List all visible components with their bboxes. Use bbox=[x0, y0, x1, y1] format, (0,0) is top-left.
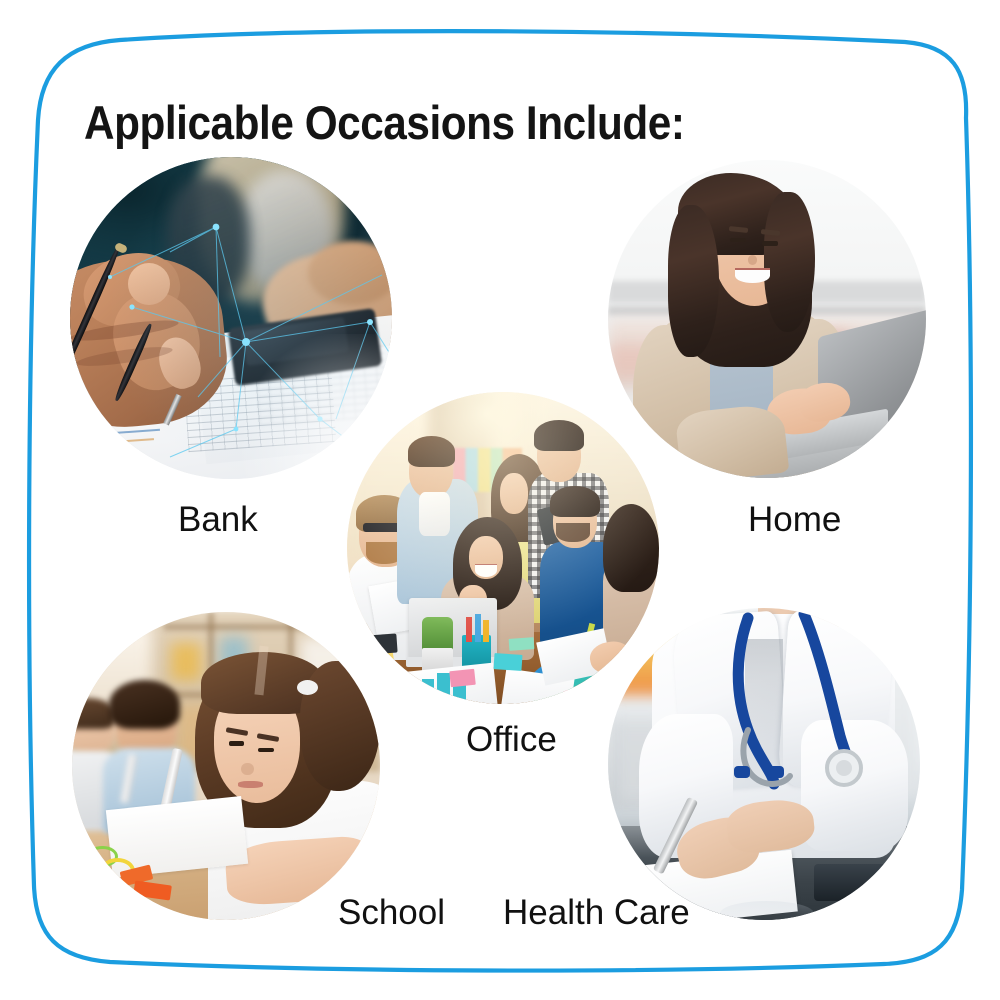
occasion-label-school: School bbox=[338, 893, 445, 933]
page-title: Applicable Occasions Include: bbox=[84, 95, 684, 150]
promo-graphic: Applicable Occasions Include: bbox=[0, 0, 1000, 1000]
occasion-circle-bank bbox=[70, 157, 392, 479]
occasion-label-health-care: Health Care bbox=[503, 893, 690, 933]
bank-photo bbox=[70, 157, 392, 479]
school-photo bbox=[72, 612, 380, 920]
occasion-circle-school bbox=[72, 612, 380, 920]
health-care-photo bbox=[608, 608, 920, 920]
occasion-label-home: Home bbox=[748, 500, 841, 540]
occasion-circle-health-care bbox=[608, 608, 920, 920]
occasion-label-office: Office bbox=[466, 720, 557, 760]
occasion-label-bank: Bank bbox=[178, 500, 258, 540]
